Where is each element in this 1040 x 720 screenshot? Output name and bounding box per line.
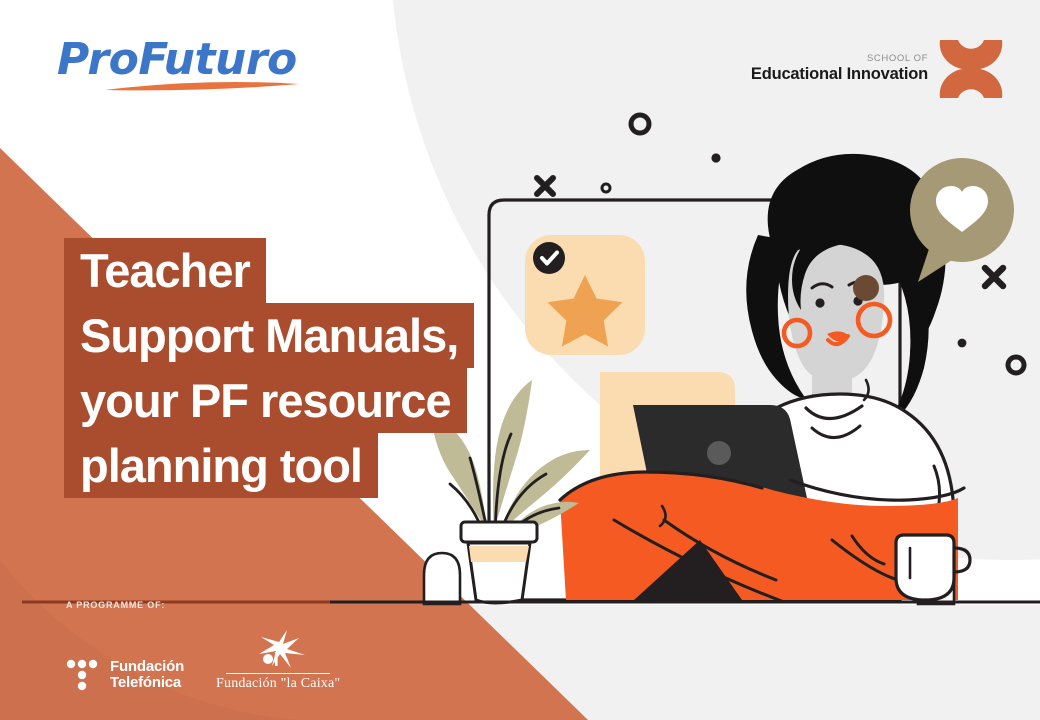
school-of-educational-innovation-logo[interactable]: SCHOOL OF Educational Innovation (751, 38, 1004, 100)
la-caixa-wordmark: Fundación "la Caixa" (216, 676, 340, 692)
telefonica-dots-icon (66, 658, 100, 692)
school-badge-text: SCHOOL OF Educational Innovation (751, 54, 928, 83)
profuturo-wordmark: ProFuturo (57, 38, 287, 82)
slide-canvas: ProFuturo SCHOOL OF Educational Innovati… (0, 0, 1040, 720)
school-badge-name: Educational Innovation (751, 66, 928, 83)
title-line-4: planning tool (64, 433, 378, 498)
programme-label: A PROGRAMME OF: (66, 600, 386, 610)
telefonica-line-1: Fundación (110, 659, 184, 675)
profuturo-logo[interactable]: ProFuturo (57, 38, 287, 100)
title-line-2: Support Manuals, (64, 303, 474, 368)
title-line-3: your PF resource (64, 368, 467, 433)
la-caixa-rule (226, 673, 330, 674)
fundacion-telefonica-logo[interactable]: Fundación Telefónica (66, 658, 184, 692)
telefonica-line-2: Telefónica (110, 675, 184, 691)
x-mark-icon (938, 38, 1004, 100)
la-caixa-star-icon (247, 628, 309, 670)
title-line-1: Teacher (64, 238, 266, 303)
partner-logos: Fundación Telefónica Fundación "la Caixa… (66, 628, 386, 692)
footer: A PROGRAMME OF: Fundación Telefónica (66, 600, 386, 692)
fundacion-la-caixa-logo[interactable]: Fundación "la Caixa" (216, 628, 340, 692)
page-title: Teacher Support Manuals, your PF resourc… (64, 238, 474, 498)
telefonica-wordmark: Fundación Telefónica (110, 659, 184, 691)
school-badge-superline: SCHOOL OF (751, 54, 928, 64)
